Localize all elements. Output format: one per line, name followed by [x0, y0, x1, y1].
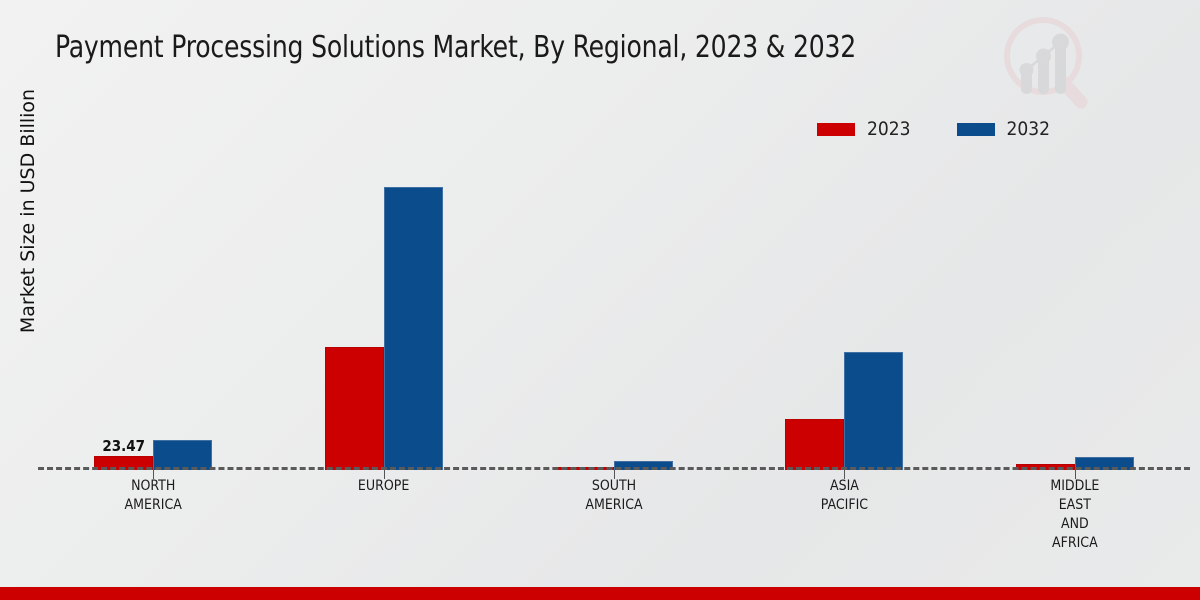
x-axis-label: EUROPE — [268, 477, 498, 553]
legend-item-2032[interactable]: 2032 — [957, 118, 1051, 140]
x-axis-label-line: ASIA — [729, 477, 959, 496]
bar-group — [729, 160, 959, 470]
bar-2032[interactable] — [384, 187, 443, 470]
x-axis-label-line: AND — [960, 515, 1190, 534]
bar-2032[interactable] — [844, 352, 903, 470]
legend-label-2023: 2023 — [867, 118, 911, 140]
bar-pair — [785, 352, 903, 470]
x-axis-label-line: NORTH — [38, 477, 268, 496]
x-axis-label: MIDDLEEASTANDAFRICA — [960, 477, 1190, 553]
axis-baseline — [38, 467, 1190, 470]
bar-pair: 23.47 — [94, 440, 212, 470]
x-axis-label-line: EAST — [960, 496, 1190, 515]
bar-groups: 23.47 — [38, 160, 1190, 470]
legend-item-2023[interactable]: 2023 — [817, 118, 911, 140]
x-axis-label-line: PACIFIC — [729, 496, 959, 515]
chart-title: Payment Processing Solutions Market, By … — [55, 30, 856, 65]
bar-group — [499, 160, 729, 470]
x-axis-label-line: AFRICA — [960, 534, 1190, 553]
x-axis-label-line: AMERICA — [38, 496, 268, 515]
bar-2023[interactable] — [325, 347, 384, 470]
bar-pair — [325, 187, 443, 470]
x-axis-labels: NORTHAMERICAEUROPESOUTHAMERICAASIAPACIFI… — [38, 477, 1190, 553]
x-axis-label-line: EUROPE — [268, 477, 498, 496]
bar-group — [268, 160, 498, 470]
bar-group — [960, 160, 1190, 470]
bar-value-label: 23.47 — [102, 437, 145, 455]
x-axis-label-line: MIDDLE — [960, 477, 1190, 496]
x-axis-label: ASIAPACIFIC — [729, 477, 959, 553]
y-axis-title: Market Size in USD Billion — [17, 41, 39, 381]
legend-swatch-2023 — [817, 123, 855, 136]
chart-container: Payment Processing Solutions Market, By … — [0, 0, 1200, 600]
x-axis-label: NORTHAMERICA — [38, 477, 268, 553]
bar-2023[interactable] — [785, 419, 844, 470]
chart-legend: 2023 2032 — [817, 118, 1050, 140]
bar-group: 23.47 — [38, 160, 268, 470]
x-axis-label: SOUTHAMERICA — [499, 477, 729, 553]
x-axis-label-line: SOUTH — [499, 477, 729, 496]
watermark-logo-icon — [997, 12, 1089, 112]
legend-swatch-2032 — [957, 123, 995, 136]
legend-label-2032: 2032 — [1007, 118, 1051, 140]
bar-2032[interactable] — [153, 440, 212, 470]
x-axis-label-line: AMERICA — [499, 496, 729, 515]
plot-area: 23.47 — [38, 160, 1190, 470]
footer-band — [0, 587, 1200, 600]
